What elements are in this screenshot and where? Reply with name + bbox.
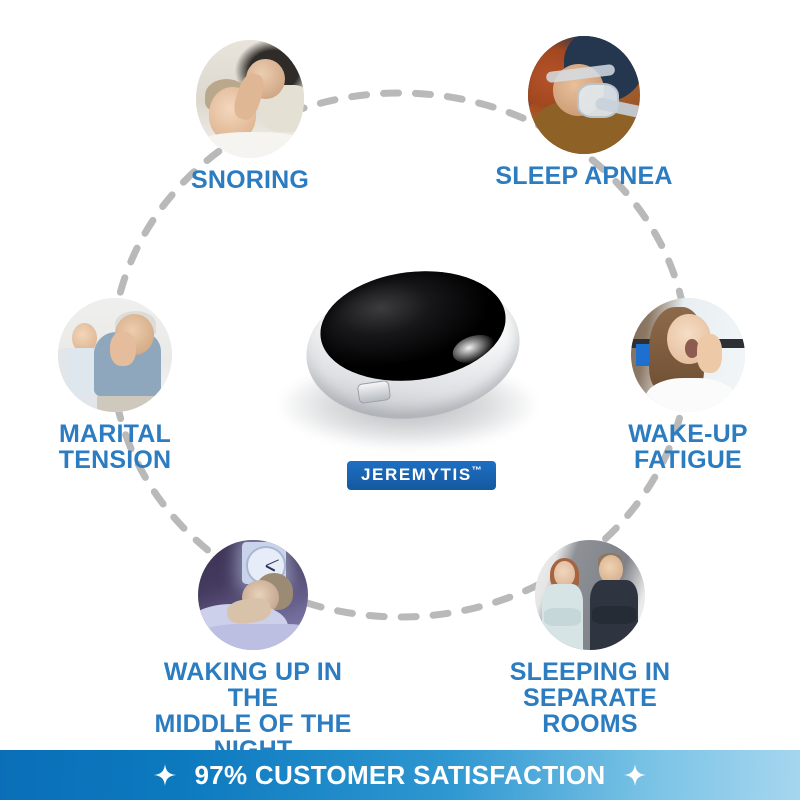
- node-waking-middle-night[interactable]: WAKING UP IN THE MIDDLE OF THE NIGHT: [143, 540, 363, 763]
- node-label-waking-middle-night: WAKING UP IN THE MIDDLE OF THE NIGHT: [143, 659, 363, 763]
- node-label-sleeping-separate-rooms: SLEEPING IN SEPARATE ROOMS: [480, 659, 700, 737]
- sparkle-icon: [624, 764, 646, 786]
- sleeping-separate-rooms-photo: [535, 540, 645, 650]
- waking-middle-night-photo: [198, 540, 308, 650]
- node-label-snoring: SNORING: [191, 167, 309, 193]
- node-sleep-apnea[interactable]: SLEEP APNEA: [494, 36, 674, 189]
- node-label-wake-up-fatigue: WAKE-UP FATIGUE: [628, 421, 747, 473]
- sparkle-icon: [154, 764, 176, 786]
- product-device: [276, 258, 544, 468]
- snoring-photo: [196, 40, 304, 158]
- trademark-symbol: ™: [472, 465, 482, 476]
- wake-up-fatigue-photo: [631, 298, 745, 412]
- brand-name: JEREMYTIS: [361, 465, 472, 484]
- node-marital-tension[interactable]: MARITAL TENSION: [44, 298, 186, 473]
- satisfaction-banner: 97% CUSTOMER SATISFACTION: [0, 750, 800, 800]
- node-label-sleep-apnea: SLEEP APNEA: [495, 163, 672, 189]
- brand-badge: JEREMYTIS™: [347, 461, 496, 490]
- node-sleeping-separate-rooms[interactable]: SLEEPING IN SEPARATE ROOMS: [480, 540, 700, 737]
- node-wake-up-fatigue[interactable]: WAKE-UP FATIGUE: [616, 298, 760, 473]
- sleep-apnea-photo: [528, 36, 640, 154]
- infographic-canvas: SNORING SLEEP APNEA: [0, 0, 800, 800]
- node-label-marital-tension: MARITAL TENSION: [59, 421, 172, 473]
- marital-tension-photo: [58, 298, 172, 412]
- node-snoring[interactable]: SNORING: [170, 40, 330, 193]
- satisfaction-text: 97% CUSTOMER SATISFACTION: [194, 760, 605, 791]
